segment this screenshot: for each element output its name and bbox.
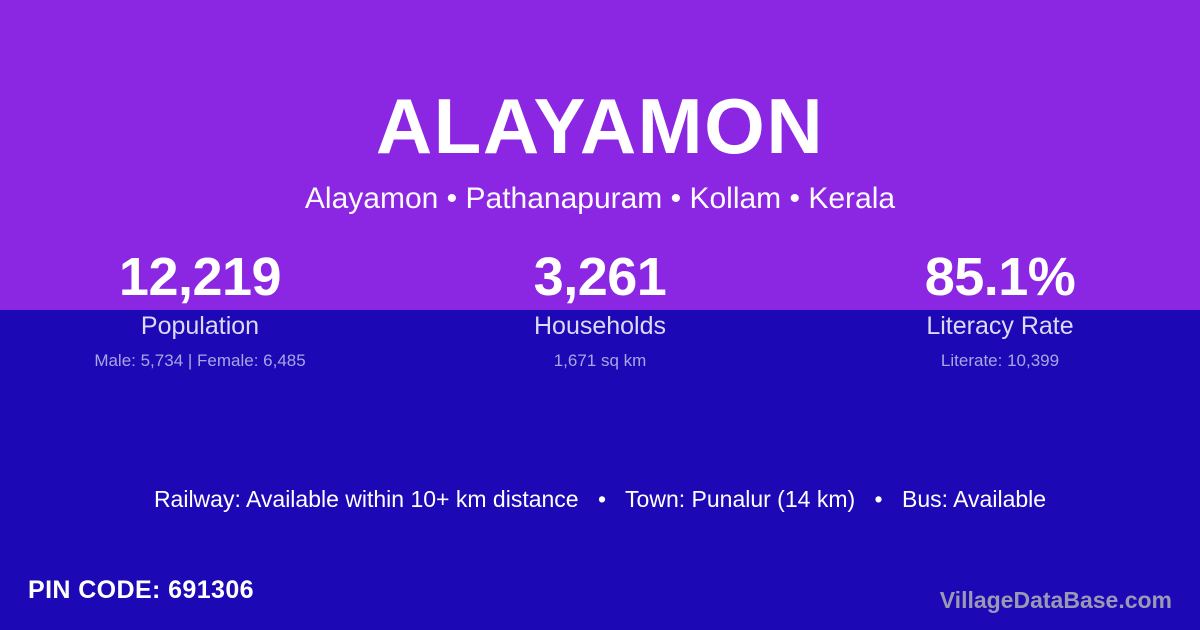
stat-value: 12,219 (0, 248, 400, 306)
info-separator-bullet: • (862, 484, 896, 514)
stat-households: 3,261 Households 1,671 sq km (400, 248, 800, 371)
stat-subtext: Literate: 10,399 (800, 350, 1200, 371)
stat-population: 12,219 Population Male: 5,734 | Female: … (0, 248, 400, 371)
village-info-card: ALAYAMON Alayamon • Pathanapuram • Kolla… (0, 0, 1200, 630)
stat-literacy-rate: 85.1% Literacy Rate Literate: 10,399 (800, 248, 1200, 371)
pin-code: PIN CODE: 691306 (28, 575, 254, 605)
stat-subtext: Male: 5,734 | Female: 6,485 (0, 350, 400, 371)
stat-label: Households (400, 312, 800, 341)
site-branding: VillageDataBase.com (940, 586, 1172, 614)
stat-label: Literacy Rate (800, 312, 1200, 341)
stat-value: 85.1% (800, 248, 1200, 306)
connectivity-info-line: Railway: Available within 10+ km distanc… (0, 484, 1200, 514)
stat-label: Population (0, 312, 400, 341)
info-separator-bullet: • (585, 484, 619, 514)
page-title: ALAYAMON (0, 82, 1200, 170)
info-item-railway: Railway: Available within 10+ km distanc… (154, 486, 579, 512)
stat-value: 3,261 (400, 248, 800, 306)
stats-row: 12,219 Population Male: 5,734 | Female: … (0, 248, 1200, 371)
stat-subtext: 1,671 sq km (400, 350, 800, 371)
info-item-bus: Bus: Available (902, 486, 1046, 512)
location-breadcrumb: Alayamon • Pathanapuram • Kollam • Keral… (0, 181, 1200, 217)
info-item-town: Town: Punalur (14 km) (625, 486, 855, 512)
